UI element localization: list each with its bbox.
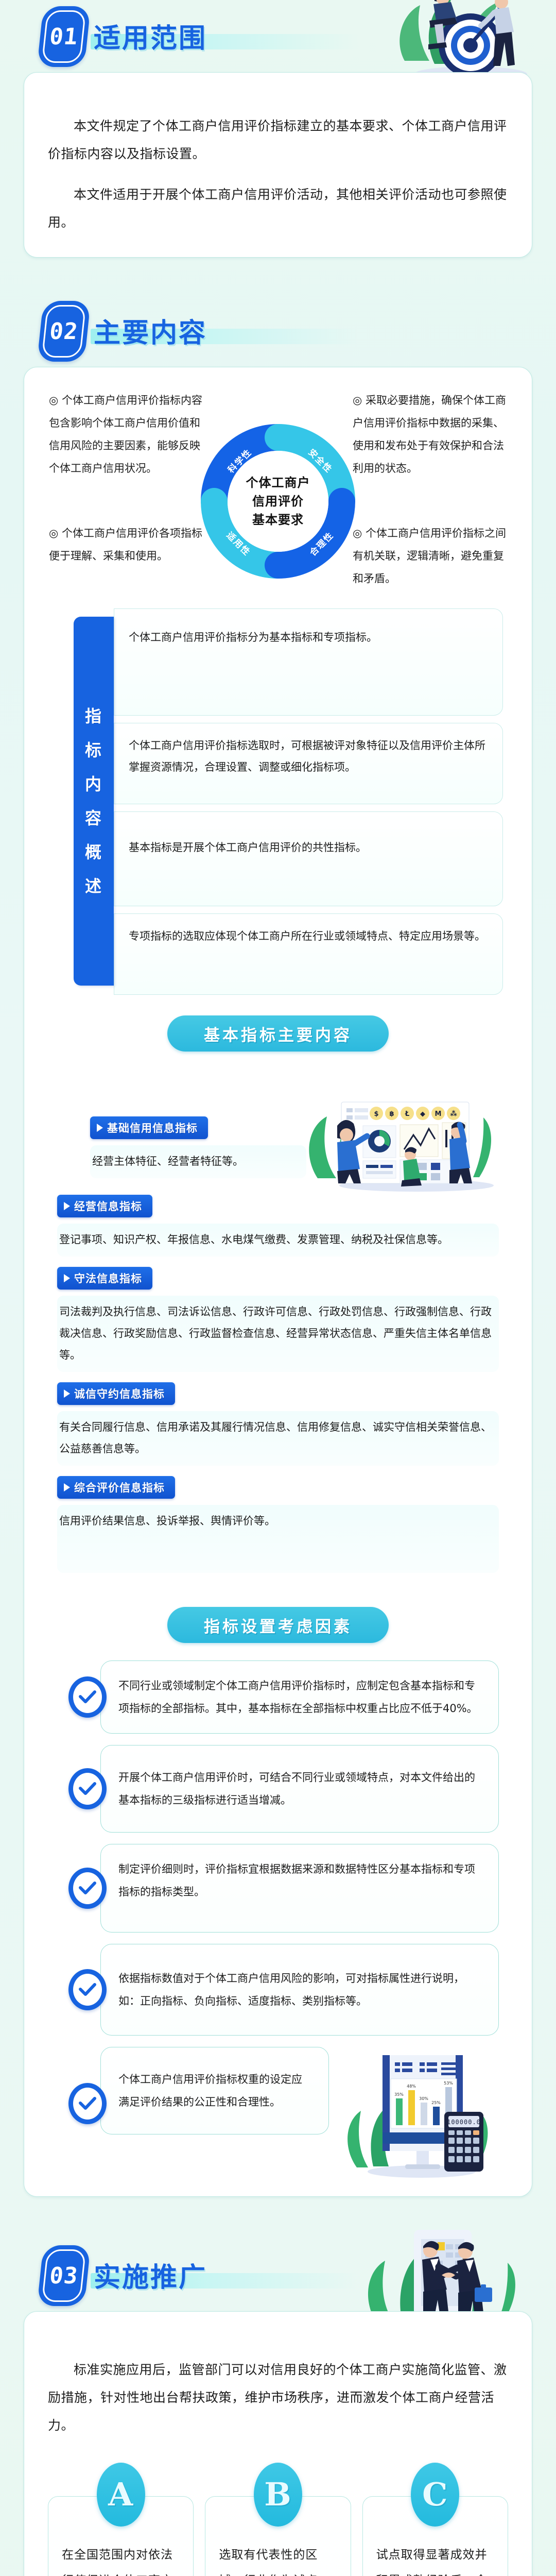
setting-check-item: 不同行业或领域制定个体工商户信用评价指标时，应制定包含基本指标和专项指标的全部指… [57, 1660, 499, 1734]
section-03-header: 03 实施推广 [0, 2239, 556, 2311]
settings-pill-label: 指标设置考虑因素 [204, 1614, 352, 1637]
svg-text:100000.0: 100000.0 [447, 2119, 481, 2126]
setting-check-item: 依据指标数值对于个体工商户信用风险的影响，可对指标属性进行说明，如：正向指标、负… [57, 1944, 499, 2036]
indicator-tag-block: 守法信息指标 司法裁判及执行信息、司法诉讼信息、行政许可信息、行政处罚信息、行政… [57, 1267, 499, 1372]
indicator-tag: 综合评价信息指标 [57, 1476, 175, 1499]
svg-text:⁂: ⁂ [450, 1110, 457, 1118]
requirement-note-1: ◎ 个体工商户信用评价指标内容包含影响个体工商户信用价值和信用风险的主要因素，能… [49, 389, 203, 480]
card-text: 选取有代表性的区域、行业作为试点，归集和分析各类信用数据，科学合理地对个体工商户… [219, 2542, 337, 2576]
svg-text:฿: ฿ [389, 1110, 394, 1118]
basic-requirements-block: ◎ 个体工商户信用评价指标内容包含影响个体工商户信用价值和信用风险的主要因素，能… [24, 375, 532, 596]
indicator-overview-row: 基本指标是开展个体工商户信用评价的共性指标。 [114, 811, 503, 906]
triangle-right-icon [64, 1389, 70, 1398]
basic-requirements-donut: 科学性 安全性 适用性 合理性 个体工商户 信用评价 基本要求 [201, 424, 355, 579]
check-circle-icon [68, 1868, 107, 1909]
indicator-tag-text: 登记事项、知识产权、年报信息、水电煤气缴费、发票管理、纳税及社保信息等。 [57, 1224, 499, 1257]
triangle-right-icon [64, 1202, 70, 1210]
indicator-overview-block: 指 标 内 容 概 述 个体工商户信用评价指标分为基本指标和专项指标。 个体工商… [24, 596, 532, 1002]
section-03-number-badge: 03 [37, 2245, 91, 2306]
indicator-tag-text: 有关合同履行信息、信用承诺及其履行情况信息、信用修复信息、诚实守信相关荣誉信息、… [57, 1411, 499, 1466]
check-circle-icon [68, 2083, 107, 2124]
indicator-tag-block: 诚信守约信息指标 有关合同履行信息、信用承诺及其履行情况信息、信用修复信息、诚实… [57, 1382, 499, 1466]
section-01-title: 适用范围 [94, 16, 207, 55]
card-text: 在全国范围内对依法行使促进个体工商户发展的部门开展标准宣贯培训。 [62, 2542, 180, 2576]
svg-text:48%: 48% [407, 2084, 416, 2089]
indicator-tag: 守法信息指标 [57, 1267, 152, 1290]
indicator-tag-block: 基础信用信息指标 经营主体特征、经营者特征等。 [90, 1116, 306, 1178]
section-03-title: 实施推广 [94, 2256, 207, 2294]
setting-check-text: 个体工商户信用评价指标权重的设定应满足评价结果的公正性和合理性。 [100, 2047, 329, 2134]
indicator-tag: 诚信守约信息指标 [57, 1382, 175, 1405]
settings-pill-title: 指标设置考虑因素 [167, 1607, 389, 1643]
check-circle-icon [68, 1676, 107, 1718]
basic-indicators-pill-label: 基本指标主要内容 [204, 1022, 352, 1045]
svg-text:$: $ [374, 1110, 378, 1118]
donut-center-line-1: 个体工商户 [246, 473, 310, 492]
implementation-card: A 在全国范围内对依法行使促进个体工商户发展的部门开展标准宣贯培训。 [48, 2496, 194, 2576]
card-badge-a: A [97, 2463, 145, 2527]
infographic-page: 01 适用范围 [0, 0, 556, 2576]
triangle-right-icon [64, 1483, 70, 1492]
card-badge-label: B [264, 2482, 291, 2507]
indicator-tag-block: 综合评价信息指标 信用评价结果信息、投诉举报、舆情评价等。 [57, 1476, 499, 1573]
section-02-panel: ◎ 个体工商户信用评价指标内容包含影响个体工商户信用价值和信用风险的主要因素，能… [24, 367, 532, 2197]
section-01-number-badge: 01 [37, 6, 91, 67]
requirement-note-3: ◎ 个体工商户信用评价各项指标便于理解、采集和使用。 [49, 522, 203, 567]
indicator-overview-row: 专项指标的选取应体现个体工商户所在行业或领域特点、特定应用场景等。 [114, 913, 503, 995]
indicator-tag: 基础信用信息指标 [90, 1116, 208, 1139]
requirement-note-4: ◎ 个体工商户信用评价指标之间有机关联，逻辑清晰，避免重复和矛盾。 [353, 522, 507, 590]
setting-check-text: 不同行业或领域制定个体工商户信用评价指标时，应制定包含基本指标和专项指标的全部指… [100, 1660, 499, 1734]
setting-check-text: 开展个体工商户信用评价时，可结合不同行业或领域特点，对本文件给出的基本指标的三级… [100, 1745, 499, 1833]
section-01-header: 01 适用范围 [0, 0, 556, 72]
indicator-overview-rows: 个体工商户信用评价指标分为基本指标和专项指标。 个体工商户信用评价指标选取时，可… [114, 608, 503, 995]
card-badge-label: C [422, 2482, 448, 2507]
check-circle-icon [68, 1768, 107, 1809]
donut-center-text: 个体工商户 信用评价 基本要求 [228, 451, 328, 552]
setting-check-item: 开展个体工商户信用评价时，可结合不同行业或领域特点，对本文件给出的基本指标的三级… [57, 1745, 499, 1833]
side-label-char-3: 内 [85, 767, 102, 801]
section-01-number: 01 [48, 24, 79, 50]
side-label-char-2: 标 [85, 733, 102, 767]
svg-text:53%: 53% [444, 2081, 453, 2086]
section-01-panel: 本文件规定了个体工商户信用评价指标建立的基本要求、个体工商户信用评价指标内容以及… [24, 72, 532, 258]
indicator-tag-text: 信用评价结果信息、投诉举报、舆情评价等。 [57, 1505, 499, 1573]
indicator-tag-label: 经营信息指标 [74, 1198, 142, 1214]
donut-center-line-3: 基本要求 [252, 511, 304, 529]
indicator-overview-side-label: 指 标 内 容 概 述 [74, 617, 114, 986]
indicator-tag-label: 诚信守约信息指标 [74, 1386, 165, 1401]
section-03-panel: 标准实施应用后，监管部门可以对信用良好的个体工商户实施简化监管、激励措施，针对性… [24, 2311, 532, 2576]
svg-text:25%: 25% [431, 2100, 441, 2105]
section-02-title: 主要内容 [94, 311, 207, 350]
setting-check-item: 制定评价细则时，评价指标宜根据数据来源和数据特性区分基本指标和专项指标的指标类型… [57, 1844, 499, 1933]
triangle-right-icon [97, 1124, 103, 1132]
indicator-overview-row: 个体工商户信用评价指标分为基本指标和专项指标。 [114, 608, 503, 716]
implementation-card: B 选取有代表性的区域、行业作为试点，归集和分析各类信用数据，科学合理地对个体工… [205, 2496, 351, 2576]
indicator-tag-text: 司法裁判及执行信息、司法诉讼信息、行政许可信息、行政处罚信息、行政强制信息、行政… [57, 1296, 499, 1372]
basic-indicators-first-item: $ ฿ Ł ◆ M ⁂ [24, 1061, 532, 1195]
implementation-cards: A 在全国范围内对依法行使促进个体工商户发展的部门开展标准宣贯培训。 B 选取有… [48, 2496, 508, 2576]
indicator-tag-block: 经营信息指标 登记事项、知识产权、年报信息、水电煤气缴费、发票管理、纳税及社保信… [57, 1195, 499, 1257]
basic-indicators-pill-title: 基本指标主要内容 [167, 1015, 389, 1052]
indicator-tag-text: 经营主体特征、经营者特征等。 [90, 1145, 306, 1178]
section-03-paragraph: 标准实施应用后，监管部门可以对信用良好的个体工商户实施简化监管、激励措施，针对性… [48, 2356, 508, 2439]
indicator-tag-label: 守法信息指标 [74, 1270, 142, 1286]
side-label-char-5: 概 [85, 835, 102, 869]
people-dashboard-charts-icon: $ ฿ Ł ◆ M ⁂ [288, 1069, 514, 1193]
section-02-number-badge: 02 [37, 301, 91, 362]
donut-center-line-2: 信用评价 [252, 492, 304, 511]
indicator-tag-label: 基础信用信息指标 [107, 1120, 198, 1136]
indicator-overview-inner: 指 标 内 容 概 述 个体工商户信用评价指标分为基本指标和专项指标。 个体工商… [24, 608, 532, 995]
side-label-char-4: 容 [85, 801, 102, 835]
requirement-note-2: ◎ 采取必要措施，确保个体工商户信用评价指标中数据的采集、使用和发布处于有效保护… [353, 389, 507, 480]
triangle-right-icon [64, 1274, 70, 1282]
svg-text:◆: ◆ [420, 1110, 425, 1118]
section-01-paragraph-1: 本文件规定了个体工商户信用评价指标建立的基本要求、个体工商户信用评价指标内容以及… [48, 112, 508, 168]
side-label-char-6: 述 [85, 869, 102, 903]
section-01-paragraph-2: 本文件适用于开展个体工商户信用评价活动，其他相关评价活动也可参照使用。 [48, 181, 508, 236]
section-02-header: 02 主要内容 [0, 295, 556, 367]
indicator-overview-row: 个体工商户信用评价指标选取时，可根据被评对象特征以及信用评价主体所掌握资源情况，… [114, 723, 503, 804]
card-badge-b: B [254, 2463, 302, 2527]
card-text: 试点取得显著成效并积累成熟经验后，全面铺开，向其他地区进行推广。 [376, 2542, 494, 2576]
monitor-barchart-calculator-icon: 35% 48% 30% 25% 53% 100000.0 [339, 2050, 504, 2179]
svg-text:30%: 30% [419, 2096, 428, 2101]
implementation-card: C 试点取得显著成效并积累成熟经验后，全面铺开，向其他地区进行推广。 [362, 2496, 508, 2576]
section-02-number: 02 [48, 318, 79, 345]
svg-text:M: M [435, 1110, 442, 1118]
setting-check-text: 依据指标数值对于个体工商户信用风险的影响，可对指标属性进行说明，如：正向指标、负… [100, 1944, 499, 2036]
setting-check-item: 个体工商户信用评价指标权重的设定应满足评价结果的公正性和合理性。 [57, 2047, 499, 2171]
card-badge-c: C [411, 2463, 459, 2527]
indicator-tag-label: 综合评价信息指标 [74, 1480, 165, 1495]
setting-check-text: 制定评价细则时，评价指标宜根据数据来源和数据特性区分基本指标和专项指标的指标类型… [100, 1844, 499, 1933]
svg-text:35%: 35% [394, 2092, 404, 2097]
side-label-char-1: 指 [85, 699, 102, 733]
svg-text:Ł: Ł [405, 1110, 409, 1118]
section-03-number: 03 [48, 2263, 79, 2289]
indicator-tag: 经营信息指标 [57, 1195, 152, 1217]
check-circle-icon [68, 1969, 107, 2010]
card-badge-label: A [108, 2482, 133, 2507]
